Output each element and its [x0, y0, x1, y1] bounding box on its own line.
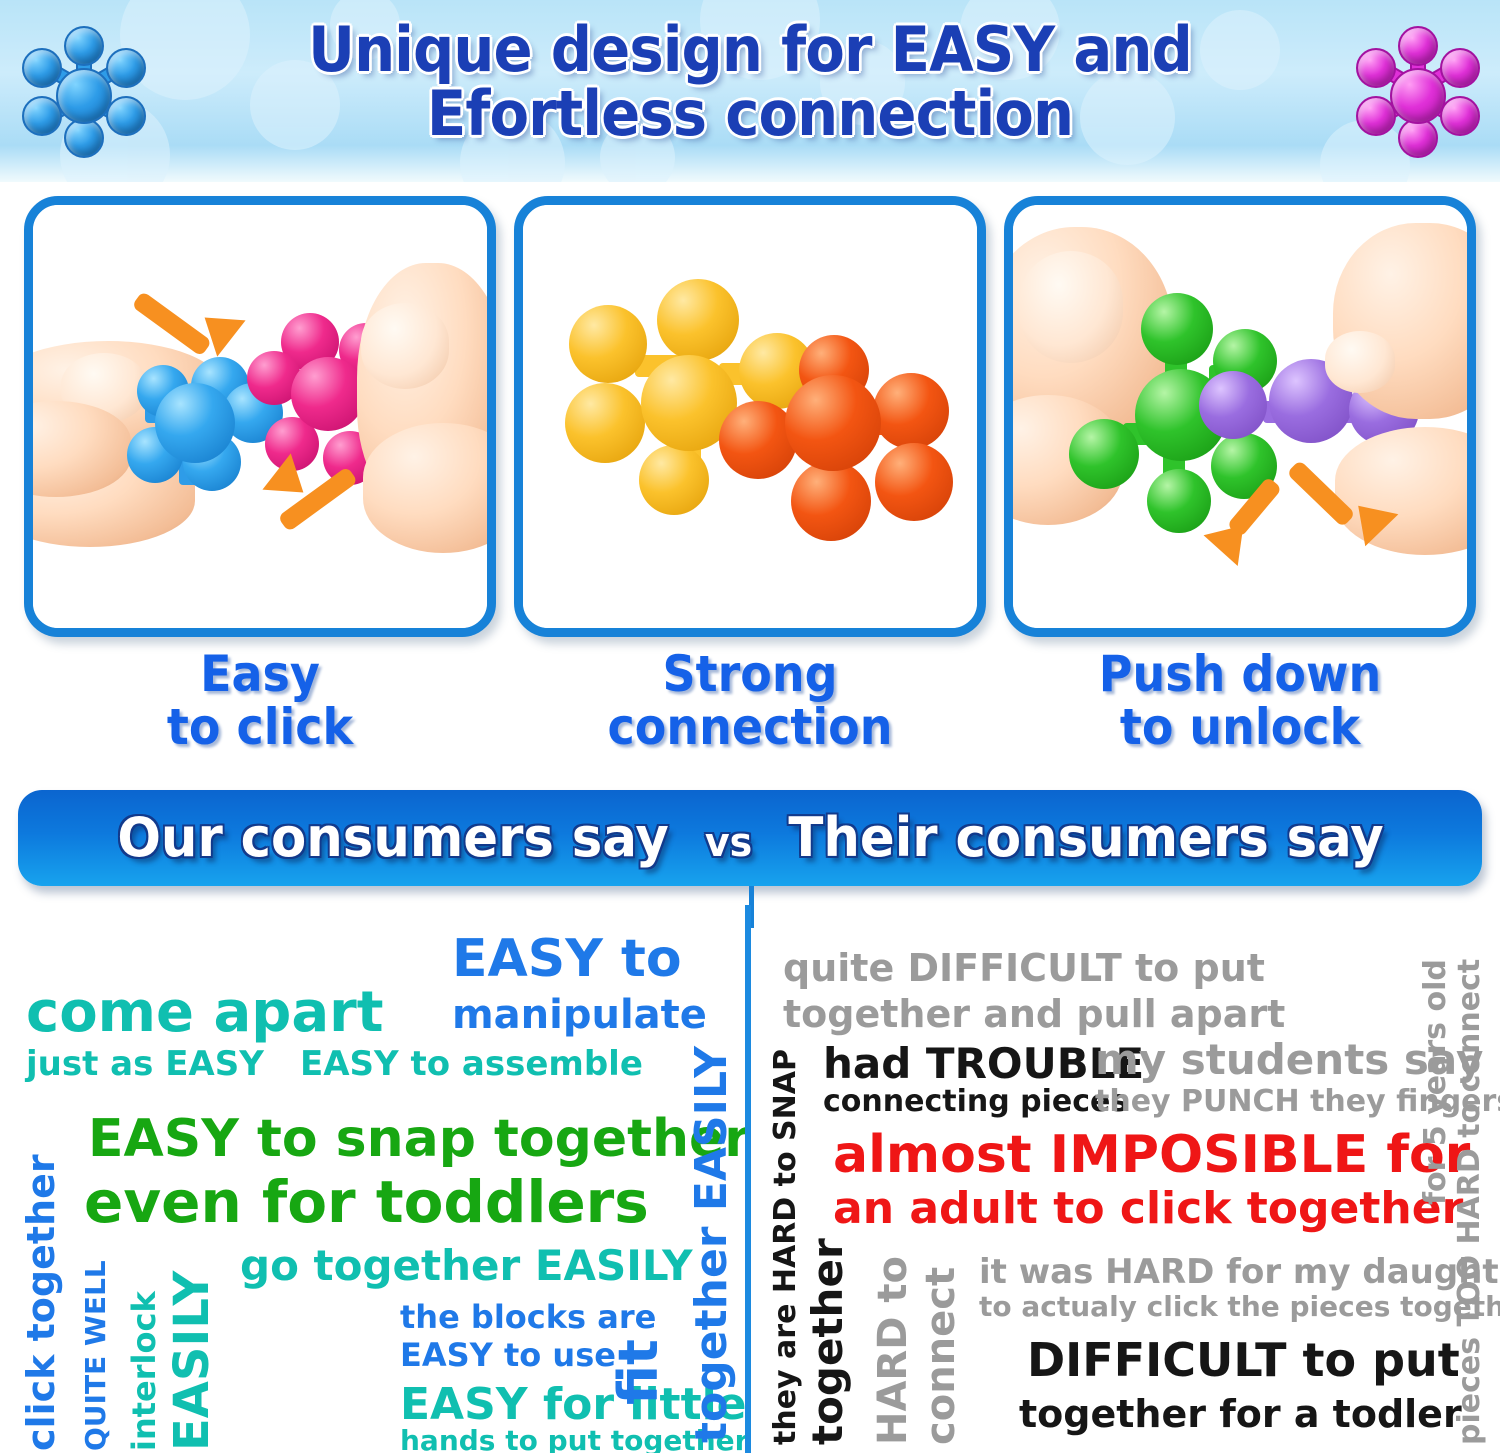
- arrow-up-left-icon: [249, 459, 369, 543]
- phrase-ours: QUITE WELL: [82, 1260, 110, 1451]
- phrase-theirs: pieces TOO HARD to connect: [1455, 959, 1485, 1445]
- phrase-theirs: together for a todler: [1019, 1395, 1462, 1433]
- phrase-ours: the blocks are: [400, 1301, 656, 1333]
- header-banner: Unique design for EASY and Efortless con…: [0, 0, 1500, 182]
- feature-panels: [0, 196, 1500, 644]
- phrase-theirs: quite DIFFICULT to put: [783, 949, 1265, 987]
- caption-easy-to-click: Easy to click: [35, 648, 486, 753]
- comparison-banner: Our consumers say vs Their consumers say: [18, 790, 1482, 886]
- phrase-ours: EASY to assemble: [300, 1047, 643, 1081]
- phrase-ours: interlock: [128, 1291, 160, 1451]
- phrase-ours: together EASILY: [690, 1046, 734, 1443]
- word-clouds: EASY to come apart manipulate just as EA…: [0, 905, 1500, 1453]
- phrase-theirs: they are HARD to SNAP: [771, 1049, 801, 1445]
- caption-strong-connection: Strong connection: [525, 648, 976, 753]
- caption-push-down-to-unlock: Push down to unlock: [1015, 648, 1466, 753]
- page-title: Unique design for EASY and Efortless con…: [53, 18, 1448, 147]
- phrase-theirs: connect: [921, 1267, 961, 1445]
- theirs-label: Their consumers say: [788, 811, 1383, 865]
- phrase-theirs: almost IMPOSIBLE for: [833, 1129, 1470, 1181]
- word-cloud-ours: EASY to come apart manipulate just as EA…: [0, 905, 745, 1453]
- phrase-theirs: DIFFICULT to put: [1027, 1337, 1460, 1383]
- arrow-down-right-icon: [137, 281, 247, 351]
- cloud-divider: [745, 905, 751, 1453]
- panel-easy-to-click[interactable]: [24, 196, 496, 637]
- panel-strong-connection[interactable]: [514, 196, 986, 637]
- phrase-theirs: for 5 years old: [1421, 959, 1451, 1205]
- phrase-ours: EASY to use: [400, 1339, 616, 1371]
- panel-captions: Easy to click Strong connection Push dow…: [0, 648, 1500, 778]
- phrase-ours: EASY to: [452, 933, 682, 985]
- infographic-page: Unique design for EASY and Efortless con…: [0, 0, 1500, 1453]
- photo-push-down-to-unlock: [1013, 205, 1467, 628]
- phrase-theirs: connecting pieces: [823, 1087, 1128, 1117]
- phrase-theirs: to actualy click the pieces together: [979, 1293, 1500, 1321]
- arrow-down-right-icon-2: [1283, 453, 1413, 553]
- phrase-theirs: HARD to: [873, 1256, 913, 1445]
- phrase-theirs: together and pull apart: [783, 995, 1285, 1033]
- phrase-ours: fit: [612, 1339, 666, 1405]
- phrase-ours: even for toddlers: [84, 1173, 649, 1231]
- phrase-ours: just as EASY: [26, 1047, 264, 1081]
- panel-push-down-to-unlock[interactable]: [1004, 196, 1476, 637]
- phrase-ours: go together EASILY: [240, 1245, 693, 1287]
- phrase-ours: click together: [22, 1154, 60, 1451]
- phrase-ours: EASILY: [168, 1271, 216, 1451]
- phrase-theirs: an adult to click together: [833, 1187, 1463, 1231]
- phrase-ours: EASY to snap together: [88, 1113, 745, 1165]
- photo-easy-to-click: [33, 205, 487, 628]
- photo-strong-connection: [523, 205, 977, 628]
- word-cloud-theirs: quite DIFFICULT to put together and pull…: [755, 905, 1500, 1453]
- vs-label: vs: [704, 823, 751, 863]
- phrase-theirs: together: [807, 1238, 849, 1445]
- phrase-ours: manipulate: [452, 995, 707, 1035]
- ours-label: Our consumers say: [117, 811, 668, 865]
- phrase-theirs: it was HARD for my daughter: [979, 1255, 1500, 1289]
- phrase-ours: come apart: [26, 985, 384, 1041]
